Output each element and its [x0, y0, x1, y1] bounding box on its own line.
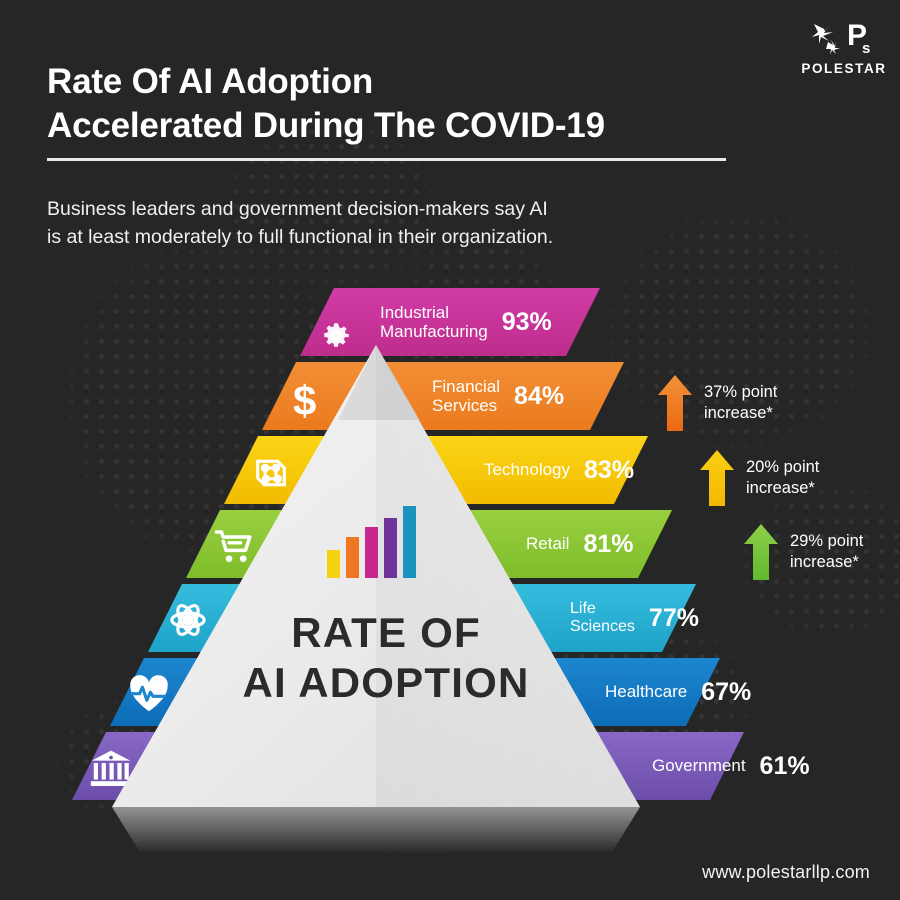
pyramid-core-title: RATE OF AI ADOPTION — [196, 608, 576, 707]
band-government[interactable]: Government 61% — [72, 732, 744, 800]
core-title-line-2: AI ADOPTION — [196, 658, 576, 708]
band-value: 61% — [760, 752, 810, 781]
band-industrial-manufacturing[interactable]: Industrial Manufacturing 93% — [300, 288, 600, 356]
infographic-canvas: P s POLESTAR Rate Of AI Adoption Acceler… — [0, 0, 900, 900]
band-financial-services[interactable]: Financial Services 84% — [262, 362, 624, 430]
website-url[interactable]: www.polestarllp.com — [702, 862, 870, 883]
note-line-1: 20% point — [746, 457, 854, 478]
up-arrow-icon — [700, 450, 734, 506]
band-shape — [262, 362, 624, 430]
note-37-point-increase: 37% point increase* — [658, 375, 812, 431]
note-line-2: increase* — [790, 552, 898, 573]
note-text: 37% point increase* — [704, 382, 812, 424]
up-arrow-icon — [744, 524, 778, 580]
band-shape — [300, 288, 600, 356]
band-shape — [186, 510, 672, 578]
bar-chart-icon — [325, 506, 425, 578]
band-shape — [72, 732, 744, 800]
band-shape — [224, 436, 648, 504]
note-line-1: 29% point — [790, 531, 898, 552]
note-line-1: 37% point — [704, 382, 812, 403]
pyramid-chart: Industrial Manufacturing 93% Financial S… — [0, 0, 900, 900]
note-text: 29% point increase* — [790, 531, 898, 573]
band-technology[interactable]: Technology 83% — [224, 436, 648, 504]
note-line-2: increase* — [746, 478, 854, 499]
note-29-point-increase: 29% point increase* — [744, 524, 898, 580]
note-20-point-increase: 20% point increase* — [700, 450, 854, 506]
band-retail[interactable]: Retail 81% — [186, 510, 672, 578]
note-line-2: increase* — [704, 403, 812, 424]
core-title-line-1: RATE OF — [196, 608, 576, 658]
note-text: 20% point increase* — [746, 457, 854, 499]
up-arrow-icon — [658, 375, 692, 431]
